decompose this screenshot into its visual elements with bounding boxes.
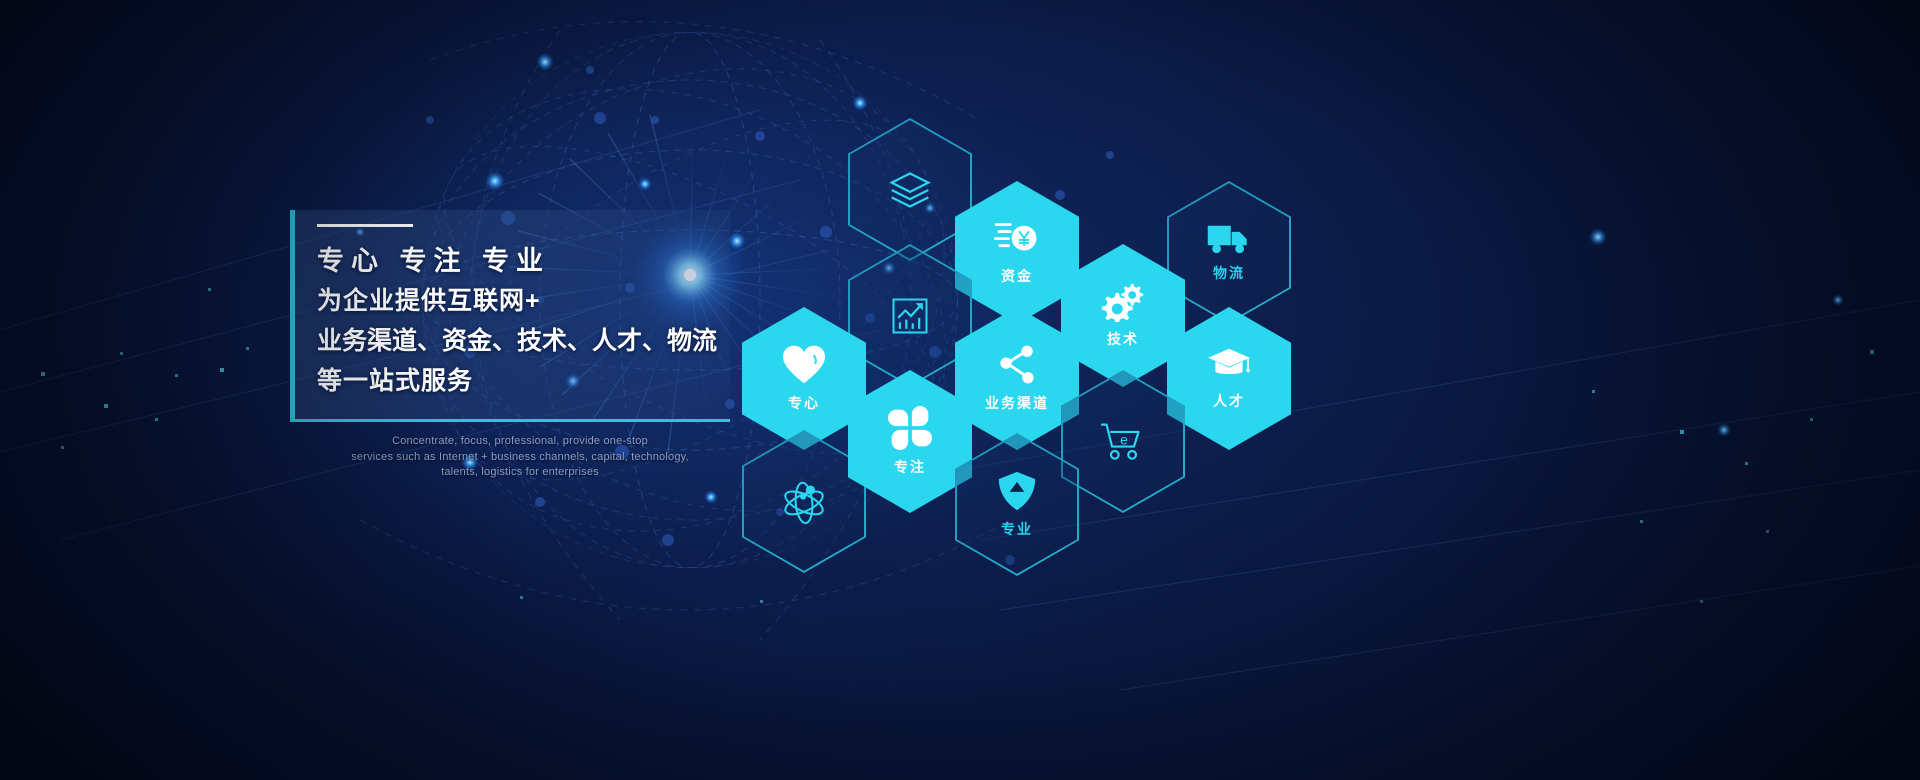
hex-chart[interactable] — [848, 244, 972, 387]
hexagon-cluster: 资金 物流 — [0, 0, 1920, 780]
heart-icon — [781, 344, 827, 386]
hex-talent[interactable]: 人才 — [1167, 307, 1291, 450]
gears-icon — [1101, 282, 1145, 322]
diamond-icon — [997, 470, 1037, 512]
hex-tech[interactable]: 技术 — [1061, 244, 1185, 387]
hex-focus-heart[interactable]: 专心 — [742, 307, 866, 450]
growth-chart-icon — [888, 294, 932, 338]
hex-atom[interactable] — [742, 430, 866, 573]
hex-talent-label: 人才 — [1213, 391, 1245, 411]
graduation-cap-icon — [1206, 346, 1252, 384]
hex-cart[interactable]: e — [1061, 370, 1185, 513]
banner-stage: 专心 专注 专业 为企业提供互联网+ 业务渠道、资金、技术、人才、物流 等一站式… — [0, 0, 1920, 780]
hex-professional[interactable]: 专业 — [955, 433, 1079, 576]
hex-professional-label: 专业 — [1001, 519, 1033, 539]
hex-funds[interactable]: 资金 — [955, 181, 1079, 324]
layers-icon — [888, 168, 932, 212]
svg-text:e: e — [1120, 432, 1128, 447]
hex-tech-label: 技术 — [1107, 329, 1139, 349]
ecommerce-cart-icon: e — [1099, 421, 1147, 463]
yen-coin-icon — [994, 219, 1040, 259]
hex-channels[interactable]: 业务渠道 — [955, 307, 1079, 450]
hex-focus-heart-label: 专心 — [788, 393, 820, 413]
hex-channels-label: 业务渠道 — [985, 393, 1049, 413]
clover-icon — [888, 406, 932, 450]
atom-icon — [780, 479, 828, 525]
hex-focus-clover-label: 专注 — [894, 457, 926, 477]
truck-icon — [1206, 222, 1252, 256]
hex-layers[interactable] — [848, 118, 972, 261]
hex-logistics[interactable]: 物流 — [1167, 181, 1291, 324]
hex-logistics-label: 物流 — [1213, 263, 1245, 283]
share-nodes-icon — [996, 344, 1038, 386]
hex-focus-clover[interactable]: 专注 — [848, 370, 972, 513]
hex-funds-label: 资金 — [1001, 266, 1033, 286]
